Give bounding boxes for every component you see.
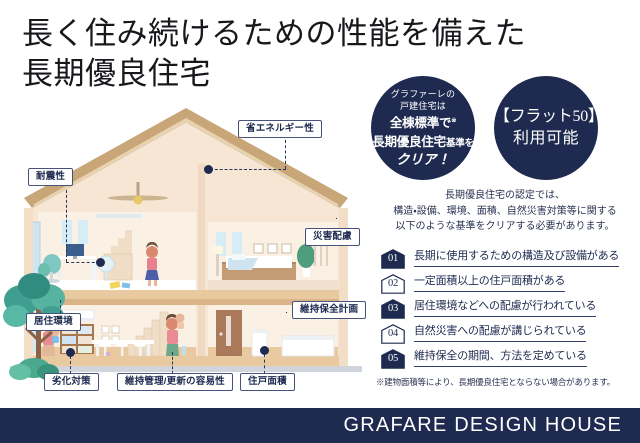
connector-saigai-h: [336, 218, 337, 219]
criteria-item: 01 長期に使用するための構造及び設備がある: [381, 246, 637, 271]
badge-seal-big-1-text: 全棟標準で: [390, 116, 452, 130]
connector-ijikanri-v: [172, 352, 173, 374]
floor-ball: [106, 352, 111, 357]
page-title: 長く住み続けるための性能を備えた 長期優良住宅: [22, 14, 422, 93]
child-body: [177, 322, 184, 329]
door-knob: [219, 332, 222, 335]
dot-rekka: [66, 348, 75, 357]
criteria-number-badge-05: 05: [381, 349, 405, 369]
badge-seal-big-1: 全棟標準で※: [390, 115, 456, 132]
badge-seal-asterisk: ※: [451, 118, 456, 124]
criteria-intro: 長期優良住宅の認定では、 構造・設備、環境、面積、自然災害対策等に関する 以下の…: [376, 188, 634, 235]
partition-lower: [198, 305, 205, 356]
footnote: ※建物面積等により、長期優良住宅とならない場合があります。: [376, 376, 638, 388]
upper-floor-slab: [32, 290, 340, 299]
callout-deterioration-measures: 劣化対策: [44, 373, 99, 391]
criteria-text-01: 長期に使用するための構造及び設備がある: [414, 250, 619, 266]
intro-line-3: 以下のような基準をクリアする必要があります。: [376, 219, 634, 235]
brand-name: GRAFARE DESIGN HOUSE: [344, 414, 623, 437]
criteria-item: 02 一定面積以上の住戸面積がある: [381, 271, 637, 296]
window-d: [232, 232, 242, 256]
footer-bar: GRAFARE DESIGN HOUSE: [0, 408, 640, 443]
connector-shoene-h: [210, 169, 286, 170]
criteria-number-04: 04: [388, 329, 398, 344]
criteria-number-01: 01: [388, 254, 398, 269]
connector-kyojyu-v: [60, 300, 61, 314]
house-cutaway-illustration: [0, 104, 372, 394]
dot-jyuko: [260, 346, 269, 355]
title-line-2-wrap: 長期優良住宅: [22, 54, 211, 94]
connector-shoene-v: [285, 140, 286, 169]
upper-shelf: [96, 214, 142, 218]
criteria-number-02: 02: [388, 279, 398, 294]
criteria-number-badge-01: 01: [381, 249, 405, 269]
criteria-item: 05 維持保全の期間、方法を定めている: [381, 346, 637, 371]
badge-seal-clear: クリア！: [396, 151, 450, 169]
intro-line-1: 長期優良住宅の認定では、: [376, 188, 634, 204]
person-child-study: [145, 242, 159, 286]
callout-seismic-resistance: 耐震性: [28, 168, 73, 186]
monitor: [66, 244, 84, 256]
badge-flat50-line-2: 利用可能: [513, 128, 579, 150]
floor-lamp-pole: [216, 252, 219, 276]
pillow: [232, 254, 246, 260]
door-glass: [226, 316, 231, 346]
ground-line: [10, 366, 362, 372]
callout-living-environment: 居住環境: [26, 313, 81, 331]
badge-flat50: 【フラット50】 利用可能: [494, 76, 598, 180]
badge-seal-big-2-main: 長期優良住宅: [372, 135, 446, 149]
badge-seal-big-2: 長期優良住宅基準を: [372, 134, 474, 151]
badge-seal-big-2-tail: 基準を: [446, 139, 474, 149]
connector-jyuko-v: [264, 354, 265, 374]
criteria-number-badge-04: 04: [381, 324, 405, 344]
criteria-text-02: 一定面積以上の住戸面積がある: [414, 275, 565, 291]
criteria-item: 03 居住環境などへの配慮が行われている: [381, 296, 637, 321]
connector-taishin-v: [66, 190, 67, 262]
ground-floor-slab: [32, 356, 340, 366]
ceiling-fan-light: [134, 196, 143, 205]
connector-taishin-h: [66, 262, 100, 263]
wall-frame-3: [282, 244, 291, 253]
callout-maintenance-plan: 維持保全計画: [292, 301, 366, 319]
wall-frame-2: [268, 244, 277, 253]
child-head: [176, 314, 185, 323]
dot-taishin: [96, 258, 105, 267]
window-b: [78, 220, 88, 244]
baby-body: [52, 336, 59, 343]
partition-upper: [198, 164, 205, 290]
criteria-text-03: 居住環境などへの配慮が行われている: [414, 300, 596, 316]
floor-lamp-shade: [212, 246, 223, 254]
wall-frame-1: [254, 244, 263, 253]
criteria-number-05: 05: [388, 354, 398, 369]
criteria-number-03: 03: [388, 304, 398, 319]
criteria-text-05: 維持保全の期間、方法を定めている: [414, 350, 587, 366]
badge-seal-small-2: 戸建住宅は: [400, 100, 446, 112]
criteria-list: 01 長期に使用するための構造及び設備がある 02 一定面積以上の住戸面積がある…: [381, 246, 637, 371]
criteria-item: 04 自然災害への配慮が講じられている: [381, 321, 637, 346]
intro-line-2: 構造・設備、環境、面積、自然災害対策等に関する: [376, 204, 634, 220]
bottle: [182, 346, 186, 355]
callout-disaster-consideration: 災害配慮: [305, 228, 360, 246]
criteria-number-badge-02: 02: [381, 274, 405, 294]
criteria-text-04: 自然災害への配慮が講じられている: [414, 325, 586, 341]
connector-rekka-v: [70, 356, 71, 374]
callout-energy-efficiency: 省エネルギー性: [238, 120, 322, 138]
bedroom-floor: [208, 280, 338, 290]
callout-maintenance-ease: 維持管理/更新の容易性: [117, 373, 233, 391]
title-line-2: 長期優良住宅: [22, 56, 211, 91]
connector-iji-h: [286, 312, 287, 313]
badge-standard-clear: グラファーレの 戸建住宅は 全棟標準で※ 長期優良住宅基準を クリア！: [371, 76, 475, 180]
criteria-number-badge-03: 03: [381, 299, 405, 319]
badge-flat50-line-1: 【フラット50】: [494, 106, 598, 128]
callout-dwelling-area: 住戸面積: [240, 373, 295, 391]
badge-seal-small-1: グラファーレの: [391, 88, 455, 100]
window-a: [62, 220, 72, 244]
dot-shoene: [204, 165, 213, 174]
title-line-1: 長く住み続けるための性能を備えた: [22, 14, 422, 54]
